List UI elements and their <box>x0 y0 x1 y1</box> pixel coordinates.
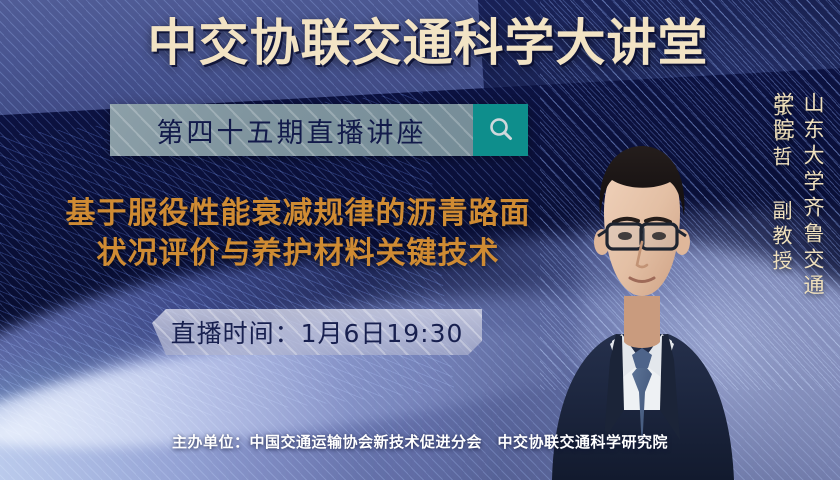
search-icon <box>486 115 516 145</box>
organizer-footer: 主办单位：中国交通运输协会新技术促进分会 中交协联交通科学研究院 <box>0 431 840 452</box>
live-lecture-poster: 中交协联交通科学大讲堂 第四十五期直播讲座 基于服役性能衰减规律的沥青路面 状况… <box>0 0 840 480</box>
speaker-affiliation: 山东大学齐鲁交通学院 <box>768 92 828 307</box>
subtitle-label: 第四十五期直播讲座 <box>157 111 427 150</box>
live-time-label: 直播时间：1月6日19:30 <box>171 314 464 350</box>
lecture-title-line-1: 基于服役性能衰减规律的沥青路面 <box>18 194 578 234</box>
subtitle-bar: 第四十五期直播讲座 <box>110 104 528 156</box>
page-title: 中交协联交通科学大讲堂 <box>0 12 840 74</box>
speaker-portrait <box>544 110 740 480</box>
subtitle-label-container: 第四十五期直播讲座 <box>110 104 473 156</box>
live-time-badge: 直播时间：1月6日19:30 <box>152 309 482 355</box>
lecture-title-line-2: 状况评价与养护材料关键技术 <box>18 234 578 274</box>
lecture-title: 基于服役性能衰减规律的沥青路面 状况评价与养护材料关键技术 <box>18 194 578 274</box>
search-icon-box[interactable] <box>473 104 528 156</box>
